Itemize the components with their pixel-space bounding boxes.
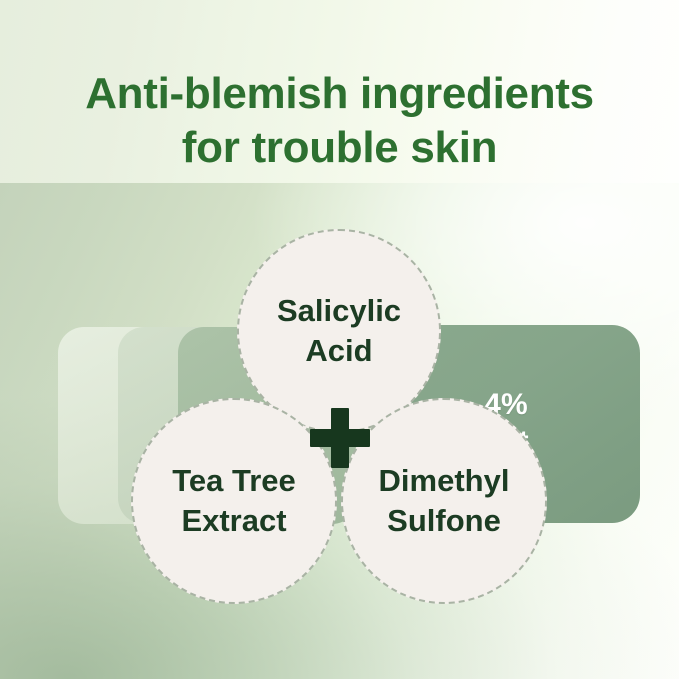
ingredient-label-line-2: Extract <box>172 501 296 541</box>
ingredient-label-dimethyl-sulfone: Dimethyl Sulfone <box>365 461 524 540</box>
ingredient-label-line-1: Dimethyl <box>379 461 510 501</box>
page-title-line-2: for trouble skin <box>24 121 655 175</box>
ingredient-label-line-2: Acid <box>277 331 401 371</box>
ingredient-label-line-2: Sulfone <box>379 501 510 541</box>
ingredient-label-salicylic-acid: Salicylic Acid <box>263 291 415 370</box>
ingredient-circle-tea-tree-extract: Tea Tree Extract <box>131 398 337 604</box>
page-title: Anti-blemish ingredients for trouble ski… <box>0 67 679 174</box>
infographic-root: Anti-blemish ingredients for trouble ski… <box>0 0 679 679</box>
ingredient-label-tea-tree-extract: Tea Tree Extract <box>158 461 310 540</box>
page-title-line-1: Anti-blemish ingredients <box>24 67 655 121</box>
ingredient-circle-dimethyl-sulfone: Dimethyl Sulfone <box>341 398 547 604</box>
ingredient-label-line-1: Tea Tree <box>172 461 296 501</box>
ingredient-label-line-1: Salicylic <box>277 291 401 331</box>
plus-icon <box>310 408 370 468</box>
